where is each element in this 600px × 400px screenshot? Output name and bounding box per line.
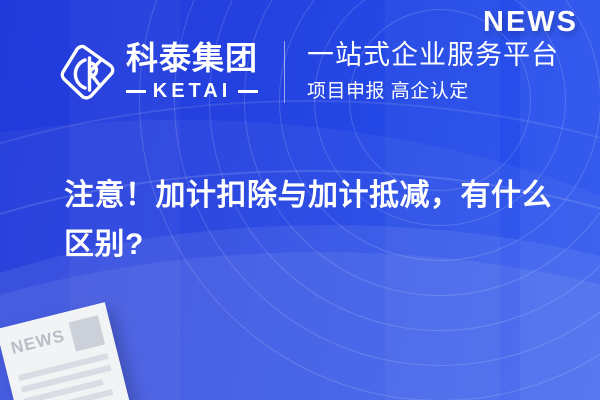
brand-name-en-row: KETAI (126, 81, 258, 101)
slogan-main: 一站式企业服务平台 (307, 40, 559, 71)
article-title: 注意！加计扣除与加计抵减，有什么区别? (64, 172, 554, 269)
brand-logo[interactable]: 科泰集团 KETAI (58, 41, 258, 103)
news-label: NEWS (483, 6, 578, 39)
dash-right-icon (238, 90, 258, 93)
newspaper-label: NEWS (9, 327, 66, 357)
dash-left-icon (126, 90, 146, 93)
ketai-diamond-kp-logo-icon (58, 41, 118, 103)
newspaper-image-placeholder-icon (69, 315, 105, 351)
newspaper-card: NEWS (0, 302, 132, 400)
news-banner: NEWS 科泰集团 KETAI (0, 0, 600, 400)
banner-header: 科泰集团 KETAI 一站式企业服务平台 项目申报 高企认定 (58, 40, 559, 103)
brand-name-cn: 科泰集团 (126, 42, 258, 74)
brand-name-en: KETAI (146, 81, 239, 101)
slogan-sub: 项目申报 高企认定 (307, 76, 559, 103)
brand-wordmark: 科泰集团 KETAI (126, 42, 258, 101)
newspaper-illustration: NEWS (0, 302, 132, 400)
header-divider (284, 41, 285, 103)
slogan-block: 一站式企业服务平台 项目申报 高企认定 (307, 40, 559, 103)
